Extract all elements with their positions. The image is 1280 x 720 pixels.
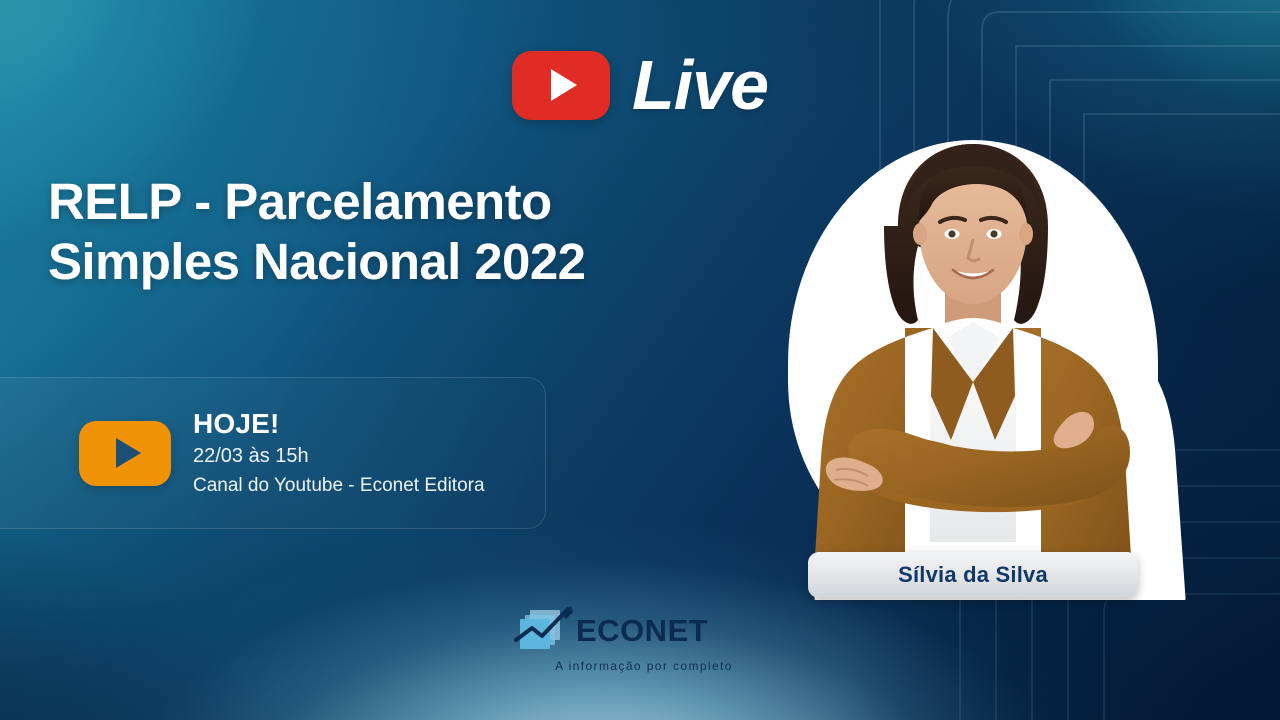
speaker-figure xyxy=(770,130,1190,600)
econet-tagline: A informação por completo xyxy=(514,659,774,673)
live-label: Live xyxy=(632,50,768,120)
title-line-1: RELP - Parcelamento xyxy=(48,172,748,232)
live-announcement-banner: Live RELP - Parcelamento Simples Naciona… xyxy=(0,0,1280,720)
econet-logo: ECONET A informação por completo xyxy=(514,606,774,680)
event-channel: Canal do Youtube - Econet Editora xyxy=(193,472,485,500)
youtube-live-header: Live xyxy=(0,50,1280,120)
play-triangle-icon xyxy=(116,438,141,468)
econet-wordmark: ECONET xyxy=(576,615,708,646)
event-info-text: HOJE! 22/03 às 15h Canal do Youtube - Ec… xyxy=(193,406,485,500)
play-triangle-icon xyxy=(551,69,577,101)
speaker-name: Sílvia da Silva xyxy=(898,562,1048,588)
speaker-portrait xyxy=(770,130,1190,600)
youtube-play-icon-orange xyxy=(79,421,171,486)
event-datetime: 22/03 às 15h xyxy=(193,442,485,471)
youtube-play-icon xyxy=(512,51,610,120)
speaker-name-plate: Sílvia da Silva xyxy=(808,552,1138,598)
page-title: RELP - Parcelamento Simples Nacional 202… xyxy=(48,172,748,292)
title-line-2: Simples Nacional 2022 xyxy=(48,232,748,292)
event-info-card: HOJE! 22/03 às 15h Canal do Youtube - Ec… xyxy=(0,377,546,529)
econet-chart-document-icon xyxy=(514,606,576,654)
event-today-label: HOJE! xyxy=(193,406,485,441)
